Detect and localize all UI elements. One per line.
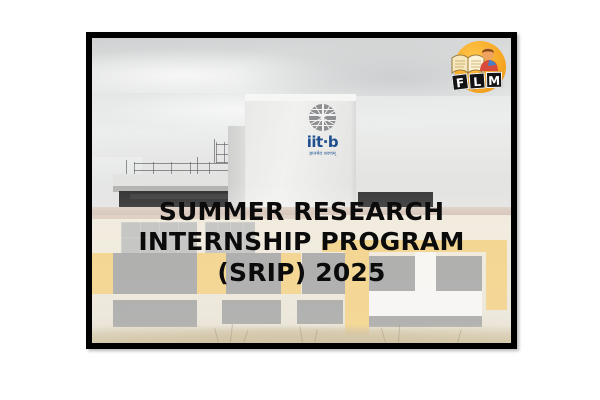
twig <box>457 329 462 343</box>
twig <box>243 330 248 343</box>
facade-window-panel <box>226 253 280 294</box>
foreground-shrubs <box>92 321 511 343</box>
facade-window-panel <box>302 253 346 294</box>
facade-white-block <box>415 252 436 293</box>
facade-amber-stripe <box>281 253 302 294</box>
flm-tile-m: M <box>486 72 502 88</box>
twig <box>214 328 219 343</box>
facade-window-panel <box>369 256 415 291</box>
facade-coping-band <box>92 207 511 214</box>
facade-amber-stripe <box>92 253 113 294</box>
facade-window-panel <box>436 256 482 291</box>
flm-badge[interactable]: F L M <box>449 39 511 97</box>
facade-coping-shadow <box>92 215 318 219</box>
iitb-wordmark: iit·b <box>307 135 338 150</box>
twig <box>314 329 318 343</box>
facade-amber-stripe <box>197 253 226 294</box>
twig <box>381 328 386 343</box>
flm-tile-l: L <box>469 72 486 89</box>
iitb-motto: ज्ञानमेव शरणम् <box>309 152 336 157</box>
twig <box>398 324 400 343</box>
facade-amber-band <box>322 240 506 252</box>
foreground-facade <box>92 207 511 343</box>
facade-window-panel <box>113 253 197 294</box>
facade-white-block <box>369 291 482 315</box>
facade-window-panel <box>121 222 196 253</box>
poster-canvas: iit·b ज्ञानमेव शरणम् <box>0 0 600 400</box>
iitb-logo: iit·b ज्ञानमेव शरणम् <box>278 101 366 167</box>
globe-icon <box>309 104 336 131</box>
flm-tile-f: F <box>451 73 469 91</box>
twig <box>299 326 303 343</box>
mast-pole <box>214 139 215 163</box>
tower-return-wall <box>228 126 246 214</box>
twig <box>230 324 233 343</box>
facade-window-panel <box>205 222 255 253</box>
glazed-window-band-right <box>358 192 433 209</box>
